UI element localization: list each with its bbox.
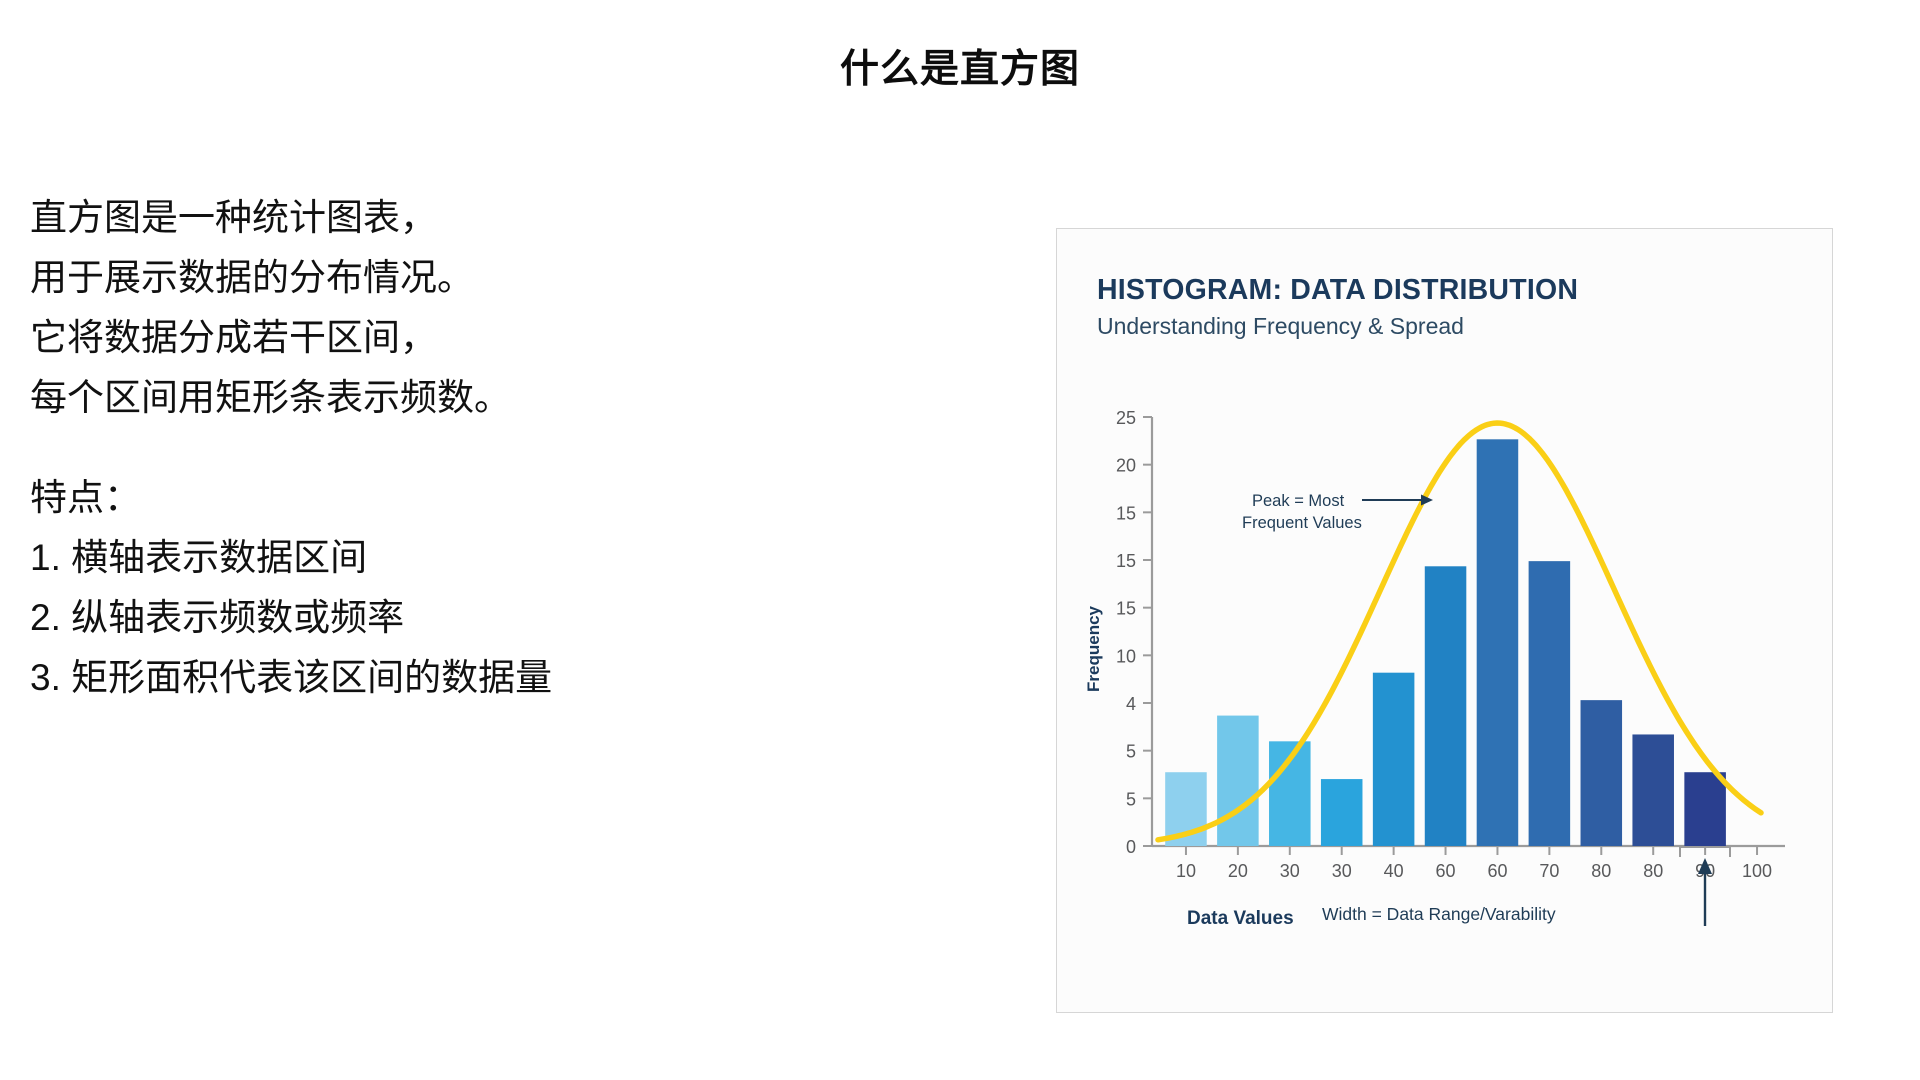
feature-item-2: 2. 纵轴表示频数或频率 xyxy=(30,588,820,648)
page-title: 什么是直方图 xyxy=(0,38,1920,94)
y-tick-label: 15 xyxy=(1116,599,1136,619)
y-tick-label: 20 xyxy=(1116,456,1136,476)
histogram-bar xyxy=(1477,439,1519,846)
y-tick-label: 5 xyxy=(1126,789,1136,809)
histogram-bar xyxy=(1684,772,1726,846)
y-tick-label: 25 xyxy=(1116,408,1136,428)
histogram-card: HISTOGRAM: DATA DISTRIBUTION Understandi… xyxy=(1056,228,1833,1013)
intro-line-3: 它将数据分成若干区间， xyxy=(30,308,820,368)
x-tick-label: 20 xyxy=(1228,861,1248,881)
histogram-bar xyxy=(1529,561,1571,846)
y-tick-label: 10 xyxy=(1116,646,1136,666)
y-axis-title: Frequency xyxy=(1084,605,1103,692)
histogram-bar xyxy=(1217,716,1259,846)
x-tick-label: 60 xyxy=(1487,861,1507,881)
width-annotation-text: Width = Data Range/Varability xyxy=(1322,904,1556,924)
y-tick-label: 4 xyxy=(1126,694,1136,714)
y-tick-label: 15 xyxy=(1116,503,1136,523)
y-tick-label: 0 xyxy=(1126,837,1136,857)
intro-line-2: 用于展示数据的分布情况。 xyxy=(30,248,820,308)
x-axis-ticks: 1020303040606070808090100 xyxy=(1176,846,1772,881)
x-tick-label: 100 xyxy=(1742,861,1772,881)
x-tick-label: 70 xyxy=(1539,861,1559,881)
intro-line-1: 直方图是一种统计图表， xyxy=(30,188,820,248)
left-text-column: 直方图是一种统计图表， 用于展示数据的分布情况。 它将数据分成若干区间， 每个区… xyxy=(30,188,820,708)
feature-item-1: 1. 横轴表示数据区间 xyxy=(30,528,820,588)
histogram-bar xyxy=(1581,700,1623,846)
histogram-bar xyxy=(1373,673,1415,846)
intro-line-4: 每个区间用矩形条表示频数。 xyxy=(30,368,820,428)
x-tick-label: 80 xyxy=(1591,861,1611,881)
plot-area: 2520151515104550 10203030406060708080901… xyxy=(1057,229,1834,1014)
slide-root: 什么是直方图 直方图是一种统计图表， 用于展示数据的分布情况。 它将数据分成若干… xyxy=(0,0,1920,1080)
x-tick-label: 10 xyxy=(1176,861,1196,881)
features-heading: 特点： xyxy=(30,468,820,528)
peak-annotation-line-2: Frequent Values xyxy=(1242,514,1362,532)
x-tick-label: 40 xyxy=(1384,861,1404,881)
y-axis-ticks: 2520151515104550 xyxy=(1116,408,1152,857)
features-block: 特点： 1. 横轴表示数据区间 2. 纵轴表示频数或频率 3. 矩形面积代表该区… xyxy=(30,468,820,708)
y-tick-label: 15 xyxy=(1116,551,1136,571)
feature-item-3: 3. 矩形面积代表该区间的数据量 xyxy=(30,648,820,708)
histogram-svg: 2520151515104550 10203030406060708080901… xyxy=(1057,229,1834,1014)
x-tick-label: 30 xyxy=(1332,861,1352,881)
x-tick-label: 30 xyxy=(1280,861,1300,881)
x-tick-label: 60 xyxy=(1436,861,1456,881)
histogram-bar xyxy=(1425,566,1467,846)
histogram-bar xyxy=(1632,734,1674,846)
y-tick-label: 5 xyxy=(1126,742,1136,762)
intro-paragraph: 直方图是一种统计图表， 用于展示数据的分布情况。 它将数据分成若干区间， 每个区… xyxy=(30,188,820,428)
histogram-bar xyxy=(1321,779,1363,846)
x-tick-label: 80 xyxy=(1643,861,1663,881)
x-axis-title: Data Values xyxy=(1187,908,1294,929)
peak-annotation-line-1: Peak = Most xyxy=(1252,492,1345,510)
